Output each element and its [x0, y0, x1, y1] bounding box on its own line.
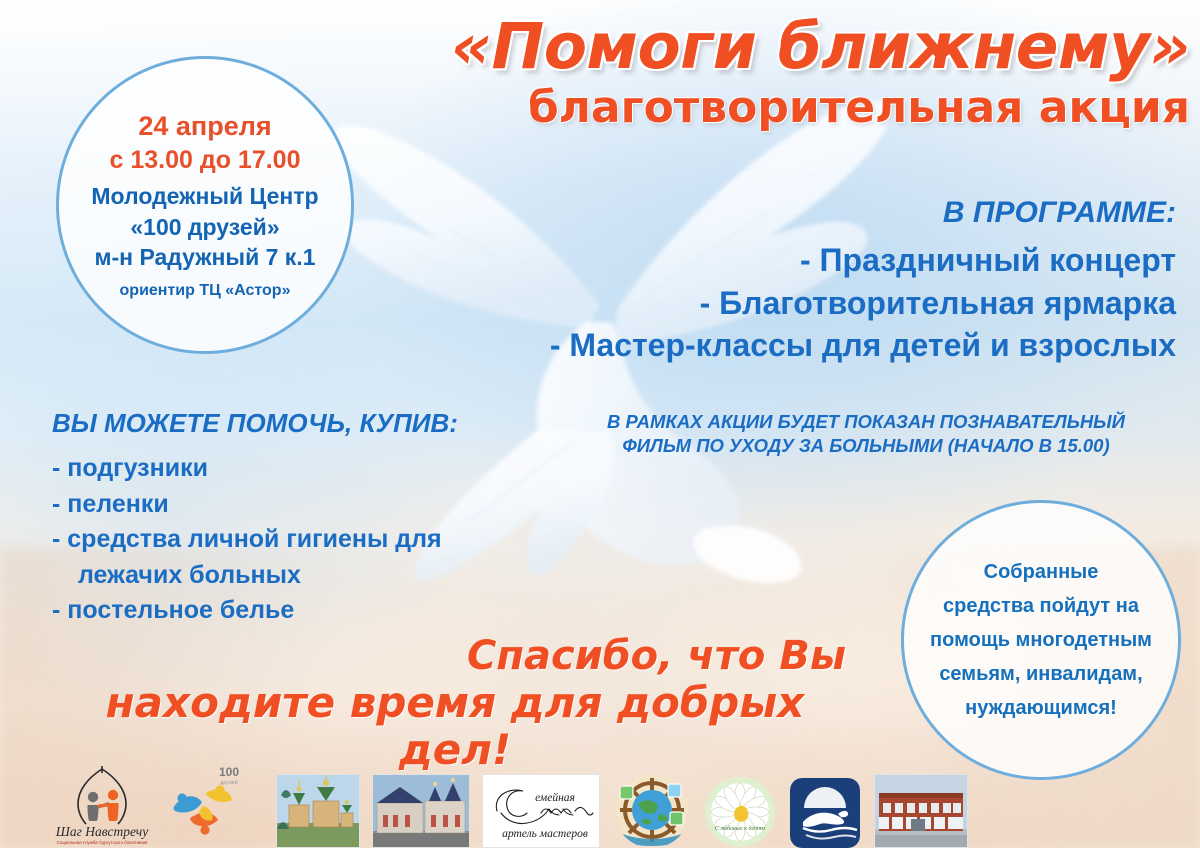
event-date: 24 апреля — [138, 110, 271, 142]
logo-shag-navstrechu: Шаг Навстречу Социальная служба Сургутск… — [48, 764, 156, 848]
logo-100-druzey: 100 друзей — [166, 762, 264, 848]
logo-100-druzey-word: друзей — [220, 779, 238, 786]
logo-school-building-photo — [874, 774, 968, 848]
program-note-line: ФИЛЬМ ПО УХОДУ ЗА БОЛЬНЫМИ (НАЧАЛО В 15.… — [556, 434, 1176, 458]
venue-subname: «100 друзей» — [130, 212, 279, 242]
logo-100-druzey-number: 100 — [219, 765, 239, 779]
donation-items-section: ВЫ МОЖЕТЕ ПОМОЧЬ, КУПИВ: - подгузники - … — [52, 408, 572, 629]
program-item: - Благотворительная ярмарка — [416, 282, 1176, 325]
page-title: «Помоги ближнему» благотворительная акци… — [300, 14, 1190, 132]
headline-primary: «Помоги ближнему» — [300, 14, 1190, 80]
logo-artel-subtitle: артель мастеров — [502, 828, 588, 840]
program-item: - Праздничный концерт — [416, 239, 1176, 282]
donation-item-continued: лежачих больных — [52, 558, 572, 594]
funds-line: помощь многодетным — [930, 630, 1152, 650]
donation-list-title: ВЫ МОЖЕТЕ ПОМОЧЬ, КУПИВ: — [52, 408, 572, 439]
donation-item: - подгузники — [52, 451, 572, 487]
logo-daisy-emblem: С любовью к детям — [704, 776, 776, 848]
logo-shag-navstrechu-title: Шаг Навстречу — [55, 824, 148, 839]
program-item: - Мастер-классы для детей и взрослых — [416, 324, 1176, 367]
program-section: В ПРОГРАММЕ: - Праздничный концерт - Бла… — [416, 196, 1176, 367]
logo-artel-title: емейная — [535, 791, 575, 804]
event-time: с 13.00 до 17.00 — [109, 145, 300, 175]
venue-address: м-н Радужный 7 к.1 — [95, 242, 316, 272]
funds-usage-circle: Собранные средства пойдут на помощь мног… — [901, 500, 1181, 780]
funds-line: семьям, инвалидам, — [939, 664, 1142, 684]
program-note: В РАМКАХ АКЦИИ БУДЕТ ПОКАЗАН ПОЗНАВАТЕЛЬ… — [556, 410, 1176, 458]
donation-item: - постельное белье — [52, 593, 572, 629]
headline-secondary: благотворительная акция — [300, 84, 1190, 132]
program-note-line: В РАМКАХ АКЦИИ БУДЕТ ПОКАЗАН ПОЗНАВАТЕЛЬ… — [556, 410, 1176, 434]
funds-line: Собранные — [984, 562, 1099, 582]
logo-surgut-sable-emblem — [790, 778, 860, 848]
partner-logos-strip: Шаг Навстречу Социальная служба Сургутск… — [0, 756, 1200, 848]
thanks-message: Спасибо, что Вы находите время для добры… — [60, 634, 850, 773]
donation-item: - средства личной гигиены для — [52, 522, 572, 558]
thanks-line-1: Спасибо, что Вы — [60, 634, 850, 679]
logo-semeynaya-artel-masterov: емейная артель мастеров — [482, 774, 600, 848]
funds-line: средства пойдут на — [943, 596, 1139, 616]
logo-church-photo — [276, 774, 360, 848]
venue-name: Молодежный Центр — [91, 181, 318, 211]
charity-event-poster: «Помоги ближнему» благотворительная акци… — [0, 0, 1200, 848]
logo-globe-ship-wheel — [614, 772, 690, 848]
logo-temple-complex-photo — [372, 774, 470, 848]
logo-shag-navstrechu-subtitle: Социальная служба Сургутского благочиния — [57, 840, 148, 845]
funds-line: нуждающимся! — [965, 698, 1117, 718]
donation-item: - пеленки — [52, 487, 572, 523]
logo-daisy-title: С любовью к детям — [715, 825, 765, 832]
program-title: В ПРОГРАММЕ: — [416, 196, 1176, 230]
event-info-circle: 24 апреля с 13.00 до 17.00 Молодежный Це… — [56, 56, 354, 354]
venue-landmark: ориентир ТЦ «Астор» — [120, 282, 291, 300]
